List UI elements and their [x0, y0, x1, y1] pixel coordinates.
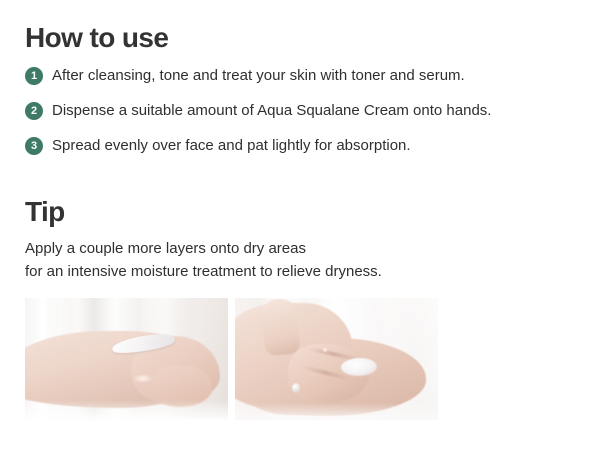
step-text: Spread evenly over face and pat lightly …	[52, 135, 411, 156]
index-finger-shape-decor	[261, 298, 301, 357]
step-number-badge: 2	[25, 102, 43, 120]
usage-step: 1 After cleansing, tone and treat your s…	[25, 65, 595, 89]
how-to-use-title: How to use	[25, 22, 595, 54]
skin-highlight-decor	[133, 374, 153, 384]
photo-bottom-fade-decor	[25, 400, 228, 420]
product-usage-panel: How to use 1 After cleansing, tone and t…	[0, 0, 600, 450]
cream-smear-decor	[341, 358, 378, 376]
photo-bottom-fade-decor	[235, 403, 438, 420]
step-number-badge: 1	[25, 67, 43, 85]
spreading-cream-on-hand-photo	[235, 298, 438, 420]
step-number-badge: 3	[25, 137, 43, 155]
usage-photo-strip	[25, 298, 438, 420]
usage-steps-list: 1 After cleansing, tone and treat your s…	[25, 65, 595, 159]
tip-body: Apply a couple more layers onto dry area…	[25, 237, 595, 283]
usage-step: 3 Spread evenly over face and pat lightl…	[25, 135, 595, 159]
usage-step: 2 Dispense a suitable amount of Aqua Squ…	[25, 100, 595, 124]
hand-with-cream-dollop-photo	[25, 298, 228, 420]
step-text: After cleansing, tone and treat your ski…	[52, 65, 465, 86]
tip-line-1: Apply a couple more layers onto dry area…	[25, 237, 595, 260]
tip-section: Tip Apply a couple more layers onto dry …	[25, 196, 595, 283]
ring-decor	[292, 383, 300, 393]
tip-line-2: for an intensive moisture treatment to r…	[25, 260, 595, 283]
step-text: Dispense a suitable amount of Aqua Squal…	[52, 100, 491, 121]
how-to-use-section: How to use 1 After cleansing, tone and t…	[25, 22, 595, 159]
tip-title: Tip	[25, 196, 595, 228]
